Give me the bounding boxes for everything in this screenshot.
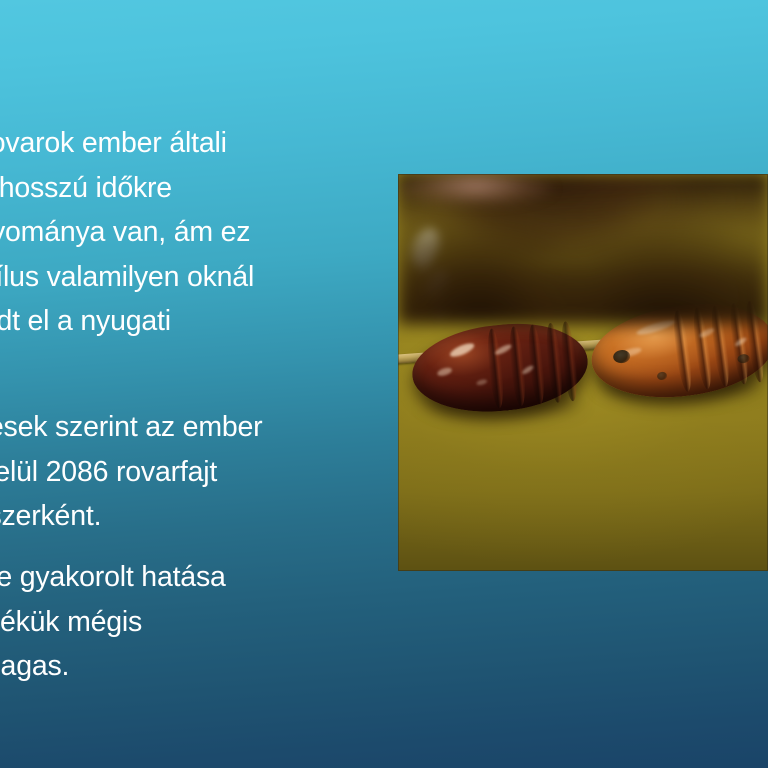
pupa-left-highlight-1 — [448, 341, 475, 360]
paragraph-1-line-3: hagyománya van, ám ez — [0, 210, 392, 255]
paragraph-1-line-2: ának hosszú időkre — [0, 166, 392, 211]
photo-bottom-dark-blur — [398, 174, 768, 324]
pupa-left-highlight-3 — [494, 343, 513, 357]
pupa-left-segment-1 — [486, 328, 507, 408]
paragraph-2-line-1: ecslések szerint az ember — [0, 405, 392, 450]
paragraph-1-line-4: ási stílus valamilyen oknál — [0, 255, 392, 300]
paragraph-2-line-3: elmiszerként. — [0, 494, 392, 539]
slide-text-column: a: A rovarok ember általi ának hosszú id… — [0, 0, 392, 768]
paragraph-3-line-3: en magas. — [0, 644, 392, 689]
presentation-slide: a: A rovarok ember általi ának hosszú id… — [0, 0, 768, 768]
paragraph-2-line-2: örülbelül 2086 rovarfajt — [0, 450, 392, 495]
fried-silkworm-pupae-photo — [398, 174, 768, 571]
paragraph-1-line-5: terjedt el a nyugati — [0, 299, 392, 344]
paragraph-3-line-1: ezetre gyakorolt hatása — [0, 555, 392, 600]
paragraph-1: a: A rovarok ember általi ának hosszú id… — [0, 121, 392, 389]
pupa-left-highlight-5 — [476, 379, 488, 387]
pupa-right-dark-spot-2 — [656, 371, 667, 380]
paragraph-1-line-6: n. — [0, 344, 392, 389]
paragraph-3-line-2: upértékük mégis — [0, 600, 392, 645]
pupa-right-dark-spot-3 — [737, 353, 750, 363]
pupa-left-segment-2 — [507, 326, 528, 406]
pupa-right-highlight-4 — [734, 337, 748, 348]
pupa-left-segment-4 — [544, 323, 565, 403]
pupa-left-highlight-4 — [521, 364, 535, 375]
pupa-left-segment-3 — [526, 325, 547, 405]
paragraph-1-line-1: a: A rovarok ember általi — [0, 121, 392, 166]
paragraph-3: ezetre gyakorolt hatása upértékük mégis … — [0, 555, 392, 689]
pupa-right-dark-spot-1 — [613, 349, 632, 364]
pupa-left-highlight-2 — [436, 366, 452, 377]
paragraph-2: ecslések szerint az ember örülbelül 2086… — [0, 405, 392, 539]
pupa-right-highlight-2 — [620, 346, 643, 359]
pupa-right-highlight-3 — [699, 326, 716, 339]
